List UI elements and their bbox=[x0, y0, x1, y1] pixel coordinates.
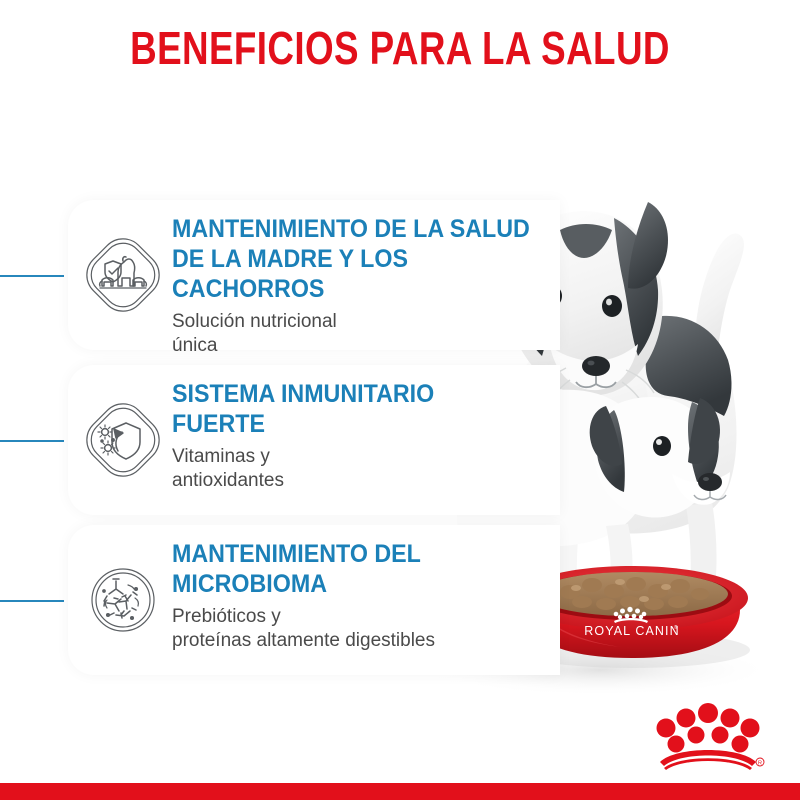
svg-text:®: ® bbox=[674, 624, 678, 631]
benefit-subtext-3: Prebióticos y proteínas altamente digest… bbox=[172, 605, 560, 653]
page-title: BENEFICIOS PARA LA SALUD bbox=[80, 22, 720, 74]
benefit-row-3: MANTENIMIENTO DEL MICROBIOMA Prebióticos… bbox=[0, 525, 560, 675]
connector-line-2 bbox=[0, 440, 64, 442]
benefit-card-3: MANTENIMIENTO DEL MICROBIOMA Prebióticos… bbox=[68, 525, 560, 675]
benefit-subtext-1: Solución nutricional única bbox=[172, 310, 560, 358]
trademark-symbol: R bbox=[758, 761, 762, 767]
benefit-card-1: MANTENIMIENTO DE LA SALUD DE LA MADRE Y … bbox=[68, 200, 560, 350]
benefit-heading-3: MANTENIMIENTO DEL MICROBIOMA bbox=[172, 539, 533, 599]
connector-line-3 bbox=[0, 600, 64, 602]
benefit-text-2: SISTEMA INMUNITARIO FUERTE Vitaminas y a… bbox=[172, 379, 560, 493]
benefit-heading-2: SISTEMA INMUNITARIO FUERTE bbox=[172, 379, 533, 439]
royal-canin-crown-logo: R bbox=[648, 700, 768, 770]
benefit-row-2: SISTEMA INMUNITARIO FUERTE Vitaminas y a… bbox=[0, 365, 560, 515]
benefit-subtext-2: Vitaminas y antioxidantes bbox=[172, 445, 560, 493]
shield-germs-immunity-icon bbox=[86, 403, 160, 477]
benefit-heading-1: MANTENIMIENTO DE LA SALUD DE LA MADRE Y … bbox=[172, 214, 533, 304]
benefit-row-1: MANTENIMIENTO DE LA SALUD DE LA MADRE Y … bbox=[0, 200, 560, 350]
svg-text:ROYAL CANIN: ROYAL CANIN bbox=[584, 624, 679, 638]
connector-line-1 bbox=[0, 275, 64, 277]
footer-red-bar bbox=[0, 783, 800, 800]
microbiome-bacteria-icon bbox=[86, 563, 160, 637]
product-benefits-page: BENEFICIOS PARA LA SALUD bbox=[0, 0, 800, 800]
benefit-text-3: MANTENIMIENTO DEL MICROBIOMA Prebióticos… bbox=[172, 539, 560, 653]
dog-mother-puppies-shield-icon bbox=[86, 238, 160, 312]
benefit-card-2: SISTEMA INMUNITARIO FUERTE Vitaminas y a… bbox=[68, 365, 560, 515]
benefit-text-1: MANTENIMIENTO DE LA SALUD DE LA MADRE Y … bbox=[172, 214, 560, 358]
